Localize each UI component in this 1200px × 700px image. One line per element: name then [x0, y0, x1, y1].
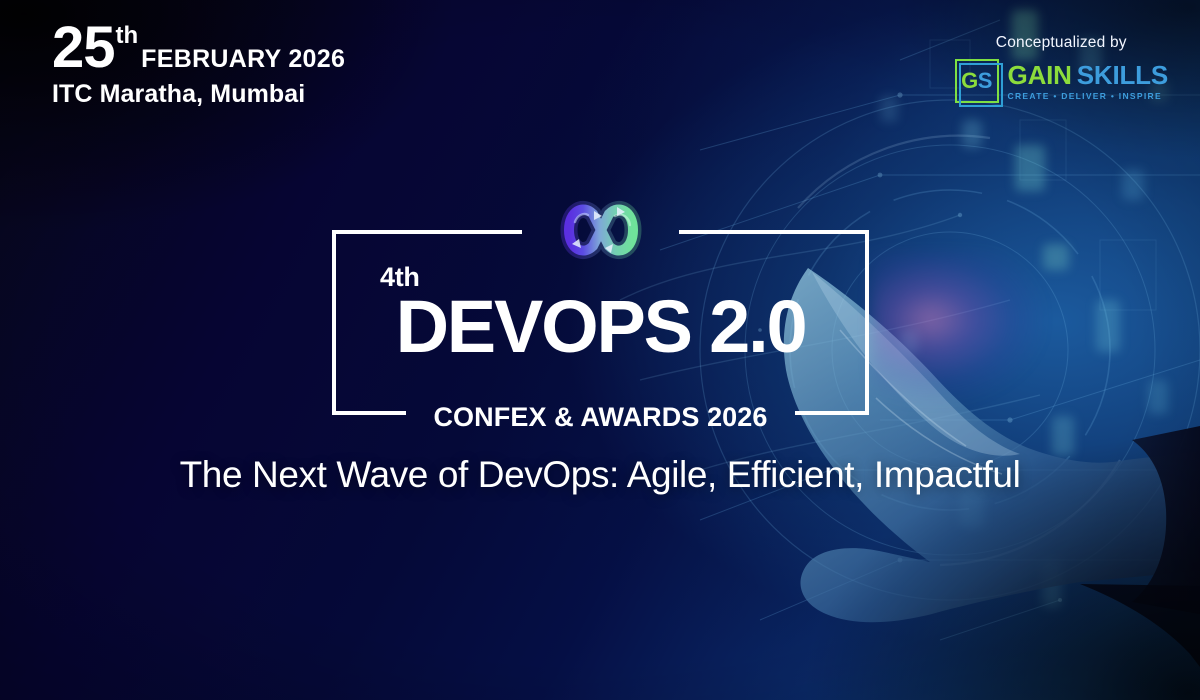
event-month-year: FEBRUARY 2026 [141, 47, 345, 72]
event-day: 25 [52, 22, 115, 73]
sponsor-wordmark: GAINSKILLS CREATE • DELIVER • INSPIRE [1008, 62, 1168, 101]
title-lockup: 4th DEVOPS 2.0 CONFEX & AWARDS 2026 [332, 230, 869, 415]
gs-letter-g: G [961, 68, 978, 94]
sponsor-tagline: CREATE • DELIVER • INSPIRE [1008, 92, 1168, 101]
event-subtitle-wrap: CONFEX & AWARDS 2026 [332, 404, 869, 431]
sponsor-block: Conceptualized by GS GAINSKILLS CREATE •… [955, 34, 1168, 103]
event-subtitle: CONFEX & AWARDS 2026 [422, 404, 778, 431]
frame-border-top-right [679, 230, 869, 234]
frame-border-top-left [332, 230, 522, 234]
event-date-block: 25 th FEBRUARY 2026 ITC Maratha, Mumbai [52, 22, 345, 107]
event-title: DEVOPS 2.0 [332, 289, 869, 364]
sponsor-name-second: SKILLS [1077, 60, 1168, 90]
title-text-group: 4th DEVOPS 2.0 [332, 264, 869, 364]
gain-skills-logo[interactable]: GS GAINSKILLS CREATE • DELIVER • INSPIRE [955, 59, 1168, 103]
gs-monogram-icon: GS [955, 59, 999, 103]
date-line: 25 th FEBRUARY 2026 [52, 22, 345, 73]
devops-infinity-icon [531, 192, 671, 268]
event-tagline: The Next Wave of DevOps: Agile, Efficien… [0, 455, 1200, 496]
gs-letter-s: S [978, 68, 992, 94]
event-day-ordinal: th [116, 24, 139, 48]
sponsor-kicker: Conceptualized by [955, 34, 1168, 52]
event-banner: 25 th FEBRUARY 2026 ITC Maratha, Mumbai … [0, 0, 1200, 700]
sponsor-name-first: GAIN [1008, 60, 1072, 90]
event-venue: ITC Maratha, Mumbai [52, 82, 345, 107]
